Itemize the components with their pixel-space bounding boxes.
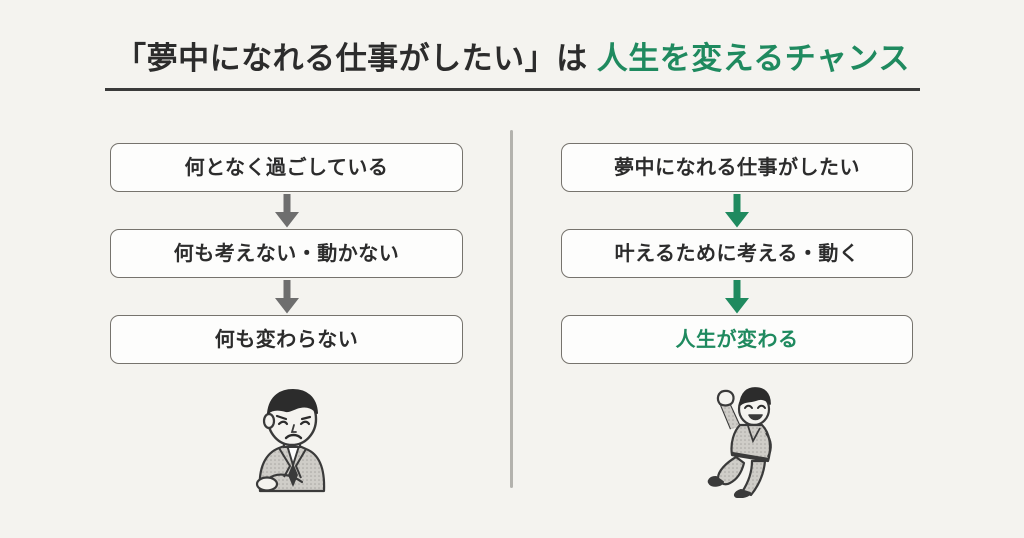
title-plain-part: 「夢中になれる仕事がしたい」は [115, 41, 597, 76]
negative-step-1-label: 何となく過ごしている [185, 158, 389, 178]
sad-businessman-illustration [222, 383, 352, 493]
negative-arrow-2 [110, 278, 463, 315]
title-text: 「夢中になれる仕事がしたい」は 人生を変えるチャンス [105, 40, 920, 79]
positive-step-2-box[interactable]: 叶えるために考える・動く [561, 229, 913, 278]
title-accent-part: 人生を変えるチャンス [597, 41, 910, 76]
positive-step-3-box[interactable]: 人生が変わる [561, 315, 913, 364]
negative-step-3-label: 何も変わらない [215, 330, 359, 350]
positive-step-3-label: 人生が変わる [676, 330, 799, 350]
positive-step-2-label: 叶えるために考える・動く [615, 244, 860, 264]
positive-flow-column: 夢中になれる仕事がしたい 叶えるために考える・動く 人生が変わる [561, 143, 913, 364]
page-title: 「夢中になれる仕事がしたい」は 人生を変えるチャンス [105, 40, 920, 79]
negative-step-1-box[interactable]: 何となく過ごしている [110, 143, 463, 192]
positive-arrow-2 [561, 278, 913, 315]
positive-step-1-box[interactable]: 夢中になれる仕事がしたい [561, 143, 913, 192]
slide-canvas: 「夢中になれる仕事がしたい」は 人生を変えるチャンス 何となく過ごしている 何も… [0, 0, 1024, 538]
negative-arrow-1 [110, 192, 463, 229]
positive-arrow-1 [561, 192, 913, 229]
positive-step-1-label: 夢中になれる仕事がしたい [614, 158, 860, 178]
negative-step-2-box[interactable]: 何も考えない・動かない [110, 229, 463, 278]
negative-step-3-box[interactable]: 何も変わらない [110, 315, 463, 364]
title-underline-rule [105, 88, 920, 91]
negative-flow-column: 何となく過ごしている 何も考えない・動かない 何も変わらない [110, 143, 463, 364]
negative-step-2-label: 何も考えない・動かない [174, 244, 400, 264]
celebrating-businessman-illustration [692, 383, 797, 498]
column-divider [510, 130, 513, 488]
